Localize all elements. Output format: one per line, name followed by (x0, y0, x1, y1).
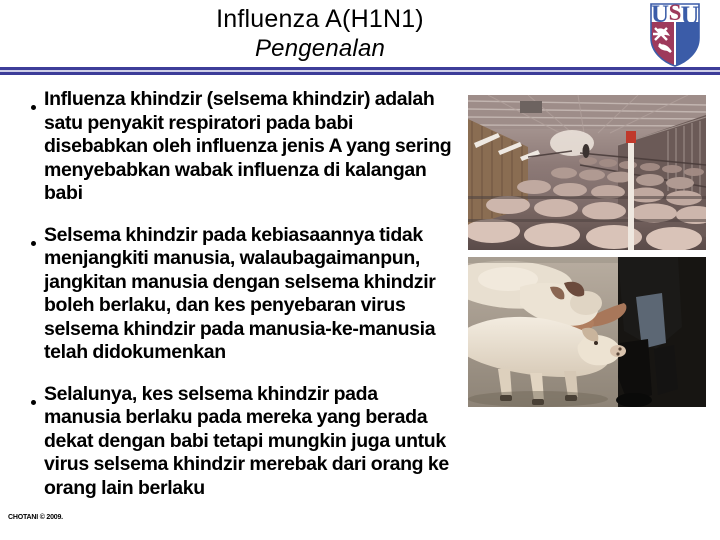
svg-text:U: U (651, 1, 669, 28)
page-title: Influenza A(H1N1) Pengenalan (0, 4, 640, 63)
footer-credit: CHOTANI © 2009. (8, 514, 63, 521)
bullet-dot-icon (22, 88, 44, 115)
header-divider (0, 67, 720, 76)
bullet-dot-icon (22, 383, 44, 410)
bullet-dot-icon (22, 224, 44, 251)
list-item: Selalunya, kes selsema khindzir pada man… (22, 383, 458, 501)
bullet-list: Influenza khindzir (selsema khindzir) ad… (22, 88, 458, 518)
svg-text:S: S (669, 0, 682, 25)
title-primary: Influenza A(H1N1) (0, 4, 640, 34)
photo-pig-barn-interior (468, 95, 706, 250)
slide: Influenza A(H1N1) Pengenalan U S U (0, 0, 720, 540)
svg-text:U: U (681, 1, 700, 30)
bullet-text: Selalunya, kes selsema khindzir pada man… (44, 383, 458, 501)
bullet-text: Selsema khindzir pada kebiasaannya tidak… (44, 224, 458, 365)
bullet-text: Influenza khindzir (selsema khindzir) ad… (44, 88, 458, 206)
usu-shield-logo: U S U (645, 0, 705, 68)
title-subtitle: Pengenalan (0, 34, 640, 63)
list-item: Selsema khindzir pada kebiasaannya tidak… (22, 224, 458, 365)
photo-pigs-with-handler (468, 257, 706, 407)
list-item: Influenza khindzir (selsema khindzir) ad… (22, 88, 458, 206)
divider-line-bottom (0, 72, 720, 75)
